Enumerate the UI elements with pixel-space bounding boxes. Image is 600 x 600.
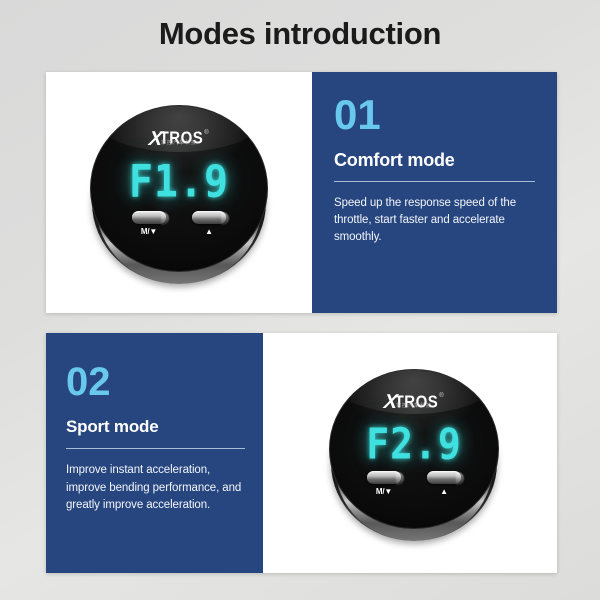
mode-info-panel-comfort: 01 Comfort mode Speed up the response sp… bbox=[312, 72, 557, 313]
led-readout: F1.9 bbox=[91, 157, 267, 206]
registered-trademark-icon: ® bbox=[204, 130, 208, 136]
device-button-row: M/▼ ▲ bbox=[330, 471, 498, 498]
mode-down-key[interactable] bbox=[367, 471, 401, 484]
page-title: Modes introduction bbox=[0, 14, 600, 54]
mode-down-button[interactable]: M/▼ bbox=[132, 211, 166, 238]
up-label: ▲ bbox=[427, 486, 461, 498]
mode-number: 01 bbox=[334, 92, 535, 138]
brand-subtitle: 掌控汽车科技 bbox=[330, 402, 498, 409]
title-divider bbox=[66, 448, 245, 449]
led-readout: F2.9 bbox=[330, 419, 498, 468]
device-body: XTROS® 掌控汽车科技 F1.9 M/▼ ▲ bbox=[89, 105, 269, 285]
device-face: XTROS® 掌控汽车科技 F2.9 M/▼ ▲ bbox=[329, 369, 499, 529]
mode-title: Comfort mode bbox=[334, 148, 535, 172]
mode-down-key[interactable] bbox=[132, 211, 166, 224]
throttle-controller-device[interactable]: XTROS® 掌控汽车科技 F1.9 M/▼ ▲ bbox=[89, 105, 269, 285]
mode-down-button[interactable]: M/▼ bbox=[367, 471, 401, 498]
mode-card-sport: 02 Sport mode Improve instant accelerati… bbox=[46, 333, 557, 573]
device-face: XTROS® 掌控汽车科技 F1.9 M/▼ ▲ bbox=[90, 105, 268, 272]
throttle-controller-device[interactable]: XTROS® 掌控汽车科技 F2.9 M/▼ ▲ bbox=[328, 369, 500, 541]
up-label: ▲ bbox=[192, 226, 226, 238]
up-button[interactable]: ▲ bbox=[427, 471, 461, 498]
device-image-panel: XTROS® 掌控汽车科技 F1.9 M/▼ ▲ bbox=[46, 72, 312, 313]
up-key[interactable] bbox=[192, 211, 226, 224]
device-button-row: M/▼ ▲ bbox=[91, 211, 267, 238]
mode-down-label: M/▼ bbox=[367, 486, 401, 498]
mode-number: 02 bbox=[66, 359, 245, 405]
brand-subtitle: 掌控汽车科技 bbox=[91, 139, 267, 146]
mode-description: Improve instant acceleration, improve be… bbox=[66, 462, 245, 515]
registered-trademark-icon: ® bbox=[439, 393, 443, 399]
up-button[interactable]: ▲ bbox=[192, 211, 226, 238]
mode-card-comfort: XTROS® 掌控汽车科技 F1.9 M/▼ ▲ bbox=[46, 72, 557, 313]
up-key[interactable] bbox=[427, 471, 461, 484]
device-body: XTROS® 掌控汽车科技 F2.9 M/▼ ▲ bbox=[328, 369, 500, 541]
mode-down-label: M/▼ bbox=[132, 226, 166, 238]
mode-description: Speed up the response speed of the throt… bbox=[334, 195, 535, 246]
mode-info-panel-sport: 02 Sport mode Improve instant accelerati… bbox=[46, 333, 263, 573]
title-divider bbox=[334, 181, 535, 182]
mode-title: Sport mode bbox=[66, 415, 245, 439]
device-image-panel: XTROS® 掌控汽车科技 F2.9 M/▼ ▲ bbox=[263, 333, 557, 573]
